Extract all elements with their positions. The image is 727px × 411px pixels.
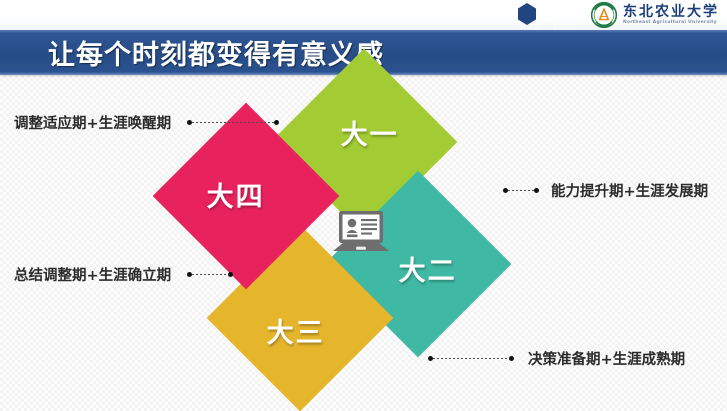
quadrant-label-senior: 大四: [207, 175, 265, 214]
page-title: 让每个时刻都变得有意义感: [48, 33, 384, 72]
callout-label-senior: 总结调整期+生涯确立期: [14, 264, 171, 285]
quadrant-label-sophomore: 大二: [399, 249, 457, 288]
university-name-cn: 东北农业大学: [623, 5, 719, 19]
callout-freshman: 调整适应期+生涯唤醒期: [14, 112, 279, 133]
callout-sophomore: 能力提升期+生涯发展期: [503, 180, 708, 201]
connector-line-junior: [428, 354, 514, 363]
slide-canvas: 东北农业大学 Northeast Agricultural University…: [0, 0, 727, 411]
connector-line-freshman: [187, 118, 279, 127]
callout-label-freshman: 调整适应期+生涯唤醒期: [14, 112, 171, 133]
university-seal-icon: [591, 2, 617, 28]
callout-label-sophomore: 能力提升期+生涯发展期: [551, 180, 708, 201]
connector-line-sophomore: [503, 186, 539, 195]
university-name-en: Northeast Agricultural University: [623, 21, 719, 25]
laptop-user-icon: [325, 202, 397, 268]
callout-label-junior: 决策准备期+生涯成熟期: [528, 348, 685, 369]
header-strip: 东北农业大学 Northeast Agricultural University: [0, 0, 727, 30]
quadrant-label-freshman: 大一: [341, 113, 399, 152]
university-logo: 东北农业大学 Northeast Agricultural University: [591, 1, 719, 29]
callout-senior: 总结调整期+生涯确立期: [14, 264, 233, 285]
quadrant-label-junior: 大三: [267, 311, 325, 350]
callout-junior: 决策准备期+生涯成熟期: [428, 348, 685, 369]
connector-line-senior: [187, 270, 233, 279]
hexagon-decoration: [505, 0, 595, 30]
